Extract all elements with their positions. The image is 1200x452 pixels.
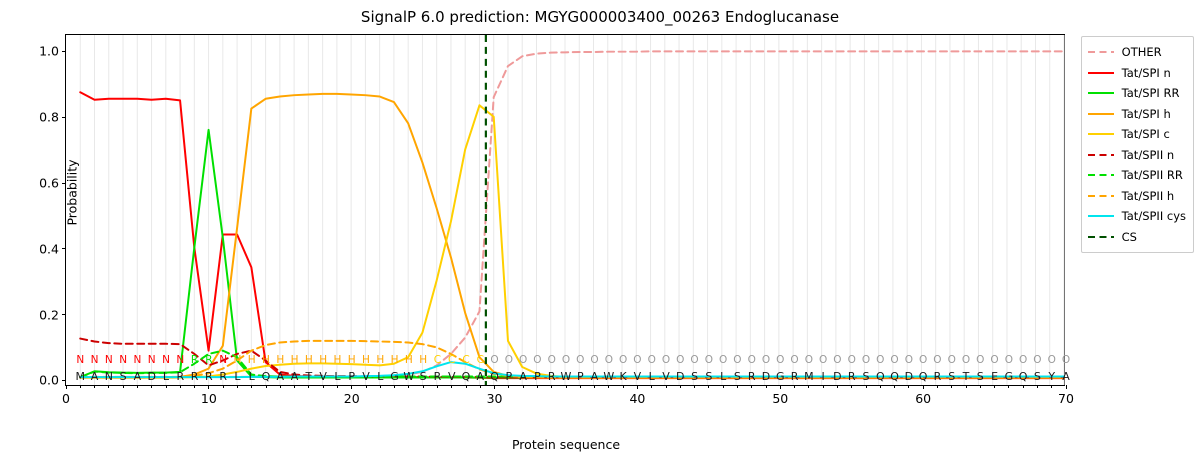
residue-letter: W bbox=[603, 369, 614, 384]
state-annotation-row: NNNNNNNNRRNHHHHHHHHHHHHHHCCCCOOOOOOOOOOO… bbox=[66, 353, 1064, 368]
x-tick-mark bbox=[66, 385, 67, 389]
residue-state-label: H bbox=[305, 353, 313, 368]
legend-item[interactable]: Tat/SPI n bbox=[1088, 63, 1186, 84]
x-minor-tick bbox=[680, 385, 681, 388]
x-minor-tick bbox=[751, 385, 752, 388]
residue-state-label: O bbox=[648, 353, 656, 368]
residue-letter: Q bbox=[490, 369, 499, 384]
residue-letter: R bbox=[934, 369, 942, 384]
x-tick-mark bbox=[208, 385, 209, 389]
legend-item[interactable]: CS bbox=[1088, 227, 1186, 248]
residue-state-label: O bbox=[905, 353, 913, 368]
residue-state-label: O bbox=[762, 353, 770, 368]
x-tick-label: 50 bbox=[772, 391, 788, 406]
residue-state-label: O bbox=[533, 353, 541, 368]
x-minor-tick bbox=[1051, 385, 1052, 388]
residue-state-label: O bbox=[562, 353, 570, 368]
residue-state-label: N bbox=[76, 353, 84, 368]
residue-state-label: N bbox=[162, 353, 170, 368]
residue-letter: A bbox=[91, 369, 99, 384]
x-minor-tick bbox=[123, 385, 124, 388]
residue-letter: W bbox=[403, 369, 414, 384]
residue-letter: V bbox=[362, 369, 370, 384]
residue-letter: D bbox=[762, 369, 770, 384]
x-tick-mark bbox=[780, 385, 781, 389]
residue-letter: N bbox=[105, 369, 113, 384]
residue-state-label: N bbox=[133, 353, 141, 368]
residue-letter: L bbox=[234, 369, 240, 384]
x-tick-mark bbox=[351, 385, 352, 389]
x-minor-tick bbox=[708, 385, 709, 388]
x-minor-tick bbox=[180, 385, 181, 388]
x-minor-tick bbox=[508, 385, 509, 388]
x-minor-tick bbox=[694, 385, 695, 388]
residue-state-label: H bbox=[233, 353, 241, 368]
x-tick-label: 70 bbox=[1058, 391, 1074, 406]
residue-letter: A bbox=[591, 369, 599, 384]
residue-letter: A bbox=[291, 369, 299, 384]
residue-letter: D bbox=[833, 369, 841, 384]
x-minor-tick bbox=[723, 385, 724, 388]
residue-state-label: O bbox=[576, 353, 584, 368]
residue-state-label: H bbox=[405, 353, 413, 368]
residue-state-label: O bbox=[876, 353, 884, 368]
x-minor-tick bbox=[951, 385, 952, 388]
x-tick-mark bbox=[494, 385, 495, 389]
legend-item[interactable]: Tat/SPII RR bbox=[1088, 165, 1186, 186]
residue-state-label: O bbox=[833, 353, 841, 368]
x-minor-tick bbox=[194, 385, 195, 388]
x-minor-tick bbox=[866, 385, 867, 388]
x-tick-label: 40 bbox=[629, 391, 645, 406]
legend-item[interactable]: Tat/SPII n bbox=[1088, 145, 1186, 166]
residue-letter: S bbox=[120, 369, 127, 384]
residue-state-label: O bbox=[1019, 353, 1027, 368]
residue-letter: G bbox=[1005, 369, 1014, 384]
data-series-layer bbox=[66, 35, 1064, 385]
residue-state-label: R bbox=[191, 353, 198, 368]
residue-letter: P bbox=[534, 369, 541, 384]
x-minor-tick bbox=[966, 385, 967, 388]
x-minor-tick bbox=[808, 385, 809, 388]
x-minor-tick bbox=[523, 385, 524, 388]
residue-state-label: O bbox=[790, 353, 798, 368]
x-minor-tick bbox=[166, 385, 167, 388]
x-tick-label: 20 bbox=[344, 391, 360, 406]
residue-letter: W bbox=[561, 369, 572, 384]
legend-label: Tat/SPII cys bbox=[1122, 209, 1186, 223]
x-minor-tick bbox=[423, 385, 424, 388]
x-minor-tick bbox=[666, 385, 667, 388]
x-tick-label: 0 bbox=[62, 391, 70, 406]
residue-letter: R bbox=[205, 369, 213, 384]
residue-state-label: H bbox=[333, 353, 341, 368]
residue-state-label: H bbox=[419, 353, 427, 368]
residue-state-label: H bbox=[376, 353, 384, 368]
residue-letter: K bbox=[620, 369, 627, 384]
residue-state-label: O bbox=[890, 353, 898, 368]
residue-letter: Q bbox=[262, 369, 271, 384]
residue-state-label: O bbox=[848, 353, 856, 368]
residue-state-label: N bbox=[176, 353, 184, 368]
residue-letter: Q bbox=[919, 369, 928, 384]
residue-state-label: N bbox=[91, 353, 99, 368]
plot-area: Probability Protein sequence 0.00.20.40.… bbox=[65, 34, 1065, 386]
residue-state-label: O bbox=[919, 353, 927, 368]
residue-state-label: O bbox=[1033, 353, 1041, 368]
legend-label: Tat/SPII n bbox=[1122, 148, 1175, 162]
x-minor-tick bbox=[1023, 385, 1024, 388]
residue-letter: Q bbox=[876, 369, 885, 384]
residue-letter: L bbox=[163, 369, 169, 384]
residue-state-label: N bbox=[105, 353, 113, 368]
x-minor-tick bbox=[880, 385, 881, 388]
residue-letter: T bbox=[963, 369, 970, 384]
residue-state-label: O bbox=[990, 353, 998, 368]
x-minor-tick bbox=[608, 385, 609, 388]
x-minor-tick bbox=[294, 385, 295, 388]
x-minor-tick bbox=[766, 385, 767, 388]
x-minor-tick bbox=[551, 385, 552, 388]
residue-state-label: H bbox=[276, 353, 284, 368]
x-minor-tick bbox=[366, 385, 367, 388]
x-tick-label: 30 bbox=[487, 391, 503, 406]
x-minor-tick bbox=[437, 385, 438, 388]
residue-state-label: O bbox=[948, 353, 956, 368]
legend-item[interactable]: Tat/SPI h bbox=[1088, 104, 1186, 125]
residue-state-label: O bbox=[690, 353, 698, 368]
residue-state-label: O bbox=[933, 353, 941, 368]
residue-state-label: O bbox=[962, 353, 970, 368]
residue-letter: Q bbox=[890, 369, 899, 384]
residue-letter: S bbox=[691, 369, 698, 384]
residue-letter: S bbox=[977, 369, 984, 384]
residue-letter: A bbox=[277, 369, 285, 384]
x-tick-mark bbox=[1066, 385, 1067, 389]
x-minor-tick bbox=[980, 385, 981, 388]
residue-state-label: O bbox=[1048, 353, 1056, 368]
residue-letter: E bbox=[991, 369, 998, 384]
x-minor-tick bbox=[937, 385, 938, 388]
x-minor-tick bbox=[337, 385, 338, 388]
residue-letter: P bbox=[506, 369, 513, 384]
residue-state-label: O bbox=[719, 353, 727, 368]
residue-letter: S bbox=[705, 369, 712, 384]
signalp-prediction-figure: SignalP 6.0 prediction: MGYG000003400_00… bbox=[0, 0, 1200, 450]
x-minor-tick bbox=[837, 385, 838, 388]
x-minor-tick bbox=[851, 385, 852, 388]
x-minor-tick bbox=[580, 385, 581, 388]
legend-label: Tat/SPI RR bbox=[1122, 86, 1180, 100]
residue-state-label: H bbox=[362, 353, 370, 368]
x-minor-tick bbox=[237, 385, 238, 388]
residue-letter: L bbox=[377, 369, 383, 384]
residue-state-label: O bbox=[590, 353, 598, 368]
x-minor-tick bbox=[823, 385, 824, 388]
residue-letter: S bbox=[420, 369, 427, 384]
x-minor-tick bbox=[537, 385, 538, 388]
residue-state-label: C bbox=[448, 353, 455, 368]
legend-label: Tat/SPI n bbox=[1122, 66, 1171, 80]
legend-label: Tat/SPI c bbox=[1122, 127, 1170, 141]
x-minor-tick bbox=[1008, 385, 1009, 388]
residue-letter: A bbox=[477, 369, 485, 384]
residue-state-label: H bbox=[262, 353, 270, 368]
residue-state-label: O bbox=[605, 353, 613, 368]
residue-state-label: H bbox=[391, 353, 399, 368]
residue-state-label: O bbox=[976, 353, 984, 368]
residue-letter: P bbox=[577, 369, 584, 384]
residue-state-label: O bbox=[748, 353, 756, 368]
x-minor-tick bbox=[280, 385, 281, 388]
residue-state-label: O bbox=[776, 353, 784, 368]
x-tick-mark bbox=[637, 385, 638, 389]
residue-letter: R bbox=[748, 369, 756, 384]
residue-letter: G bbox=[776, 369, 785, 384]
residue-letter: I bbox=[822, 369, 825, 384]
legend-item[interactable]: OTHER bbox=[1088, 42, 1186, 63]
x-minor-tick bbox=[794, 385, 795, 388]
x-minor-tick bbox=[651, 385, 652, 388]
x-tick-label: 10 bbox=[201, 391, 217, 406]
amino-acid-sequence-row: MANSADLRRRRLLQAATVLPVLGWSRVQAQPAPRWPAWKV… bbox=[66, 369, 1064, 384]
x-minor-tick bbox=[266, 385, 267, 388]
residue-letter: M bbox=[804, 369, 814, 384]
x-minor-tick bbox=[480, 385, 481, 388]
residue-letter: D bbox=[905, 369, 913, 384]
x-tick-mark bbox=[923, 385, 924, 389]
residue-letter: V bbox=[319, 369, 327, 384]
residue-letter: Q bbox=[462, 369, 471, 384]
residue-state-label: H bbox=[319, 353, 327, 368]
residue-letter: P bbox=[348, 369, 355, 384]
x-minor-tick bbox=[323, 385, 324, 388]
residue-state-label: O bbox=[1005, 353, 1013, 368]
residue-letter: S bbox=[1034, 369, 1041, 384]
residue-letter: S bbox=[863, 369, 870, 384]
x-minor-tick bbox=[94, 385, 95, 388]
page-title: SignalP 6.0 prediction: MGYG000003400_00… bbox=[0, 8, 1200, 26]
residue-state-label: O bbox=[819, 353, 827, 368]
residue-letter: L bbox=[334, 369, 340, 384]
residue-letter: R bbox=[548, 369, 556, 384]
x-minor-tick bbox=[908, 385, 909, 388]
legend-item[interactable]: Tat/SPI RR bbox=[1088, 83, 1186, 104]
x-minor-tick bbox=[108, 385, 109, 388]
residue-letter: M bbox=[76, 369, 86, 384]
x-minor-tick bbox=[466, 385, 467, 388]
residue-state-label: C bbox=[462, 353, 469, 368]
legend-label: Tat/SPI h bbox=[1122, 107, 1171, 121]
residue-state-label: N bbox=[219, 353, 227, 368]
residue-state-label: N bbox=[148, 353, 156, 368]
legend-label: Tat/SPII RR bbox=[1122, 168, 1183, 182]
residue-letter: V bbox=[634, 369, 642, 384]
residue-state-label: R bbox=[205, 353, 212, 368]
residue-letter: R bbox=[434, 369, 442, 384]
residue-state-label: C bbox=[477, 353, 484, 368]
x-minor-tick bbox=[151, 385, 152, 388]
residue-state-label: O bbox=[548, 353, 556, 368]
residue-letter: T bbox=[305, 369, 312, 384]
residue-state-label: O bbox=[490, 353, 498, 368]
x-minor-tick bbox=[566, 385, 567, 388]
residue-state-label: O bbox=[633, 353, 641, 368]
x-minor-tick bbox=[380, 385, 381, 388]
x-minor-tick bbox=[994, 385, 995, 388]
x-tick-label: 60 bbox=[915, 391, 931, 406]
legend: OTHERTat/SPI nTat/SPI RRTat/SPI hTat/SPI… bbox=[1081, 36, 1194, 253]
residue-letter: L bbox=[249, 369, 255, 384]
residue-letter: R bbox=[219, 369, 227, 384]
residue-state-label: O bbox=[1062, 353, 1070, 368]
residue-letter: Y bbox=[1048, 369, 1055, 384]
x-minor-tick bbox=[251, 385, 252, 388]
residue-state-label: O bbox=[619, 353, 627, 368]
x-minor-tick bbox=[594, 385, 595, 388]
x-minor-tick bbox=[80, 385, 81, 388]
x-minor-tick bbox=[137, 385, 138, 388]
residue-letter: A bbox=[519, 369, 527, 384]
legend-label: OTHER bbox=[1122, 45, 1162, 59]
legend-item[interactable]: Tat/SPI c bbox=[1088, 124, 1186, 145]
residue-state-label: H bbox=[348, 353, 356, 368]
residue-state-label: H bbox=[248, 353, 256, 368]
residue-letter: G bbox=[390, 369, 399, 384]
residue-letter: R bbox=[791, 369, 799, 384]
residue-letter: S bbox=[734, 369, 741, 384]
residue-state-label: H bbox=[291, 353, 299, 368]
residue-letter: A bbox=[1062, 369, 1070, 384]
residue-letter: A bbox=[134, 369, 142, 384]
residue-state-label: O bbox=[862, 353, 870, 368]
legend-label: Tat/SPII h bbox=[1122, 189, 1175, 203]
residue-state-label: O bbox=[519, 353, 527, 368]
x-minor-tick bbox=[451, 385, 452, 388]
residue-state-label: O bbox=[676, 353, 684, 368]
residue-letter: L bbox=[720, 369, 726, 384]
residue-state-label: O bbox=[733, 353, 741, 368]
residue-letter: V bbox=[448, 369, 456, 384]
residue-letter: R bbox=[191, 369, 199, 384]
residue-letter: R bbox=[176, 369, 184, 384]
x-minor-tick bbox=[894, 385, 895, 388]
legend-item[interactable]: Tat/SPII h bbox=[1088, 186, 1186, 207]
residue-letter: V bbox=[662, 369, 670, 384]
legend-item[interactable]: Tat/SPII cys bbox=[1088, 206, 1186, 227]
x-minor-tick bbox=[737, 385, 738, 388]
residue-state-label: C bbox=[434, 353, 441, 368]
residue-letter: D bbox=[676, 369, 684, 384]
residue-state-label: O bbox=[805, 353, 813, 368]
x-minor-tick bbox=[408, 385, 409, 388]
residue-state-label: O bbox=[505, 353, 513, 368]
x-minor-tick bbox=[394, 385, 395, 388]
legend-label: CS bbox=[1122, 230, 1137, 244]
residue-letter: R bbox=[848, 369, 856, 384]
residue-letter: S bbox=[948, 369, 955, 384]
x-minor-tick bbox=[1037, 385, 1038, 388]
x-minor-tick bbox=[223, 385, 224, 388]
residue-letter: D bbox=[147, 369, 155, 384]
residue-state-label: O bbox=[705, 353, 713, 368]
residue-letter: L bbox=[649, 369, 655, 384]
x-minor-tick bbox=[623, 385, 624, 388]
residue-state-label: N bbox=[119, 353, 127, 368]
residue-state-label: O bbox=[662, 353, 670, 368]
x-minor-tick bbox=[308, 385, 309, 388]
residue-letter: Q bbox=[1019, 369, 1028, 384]
